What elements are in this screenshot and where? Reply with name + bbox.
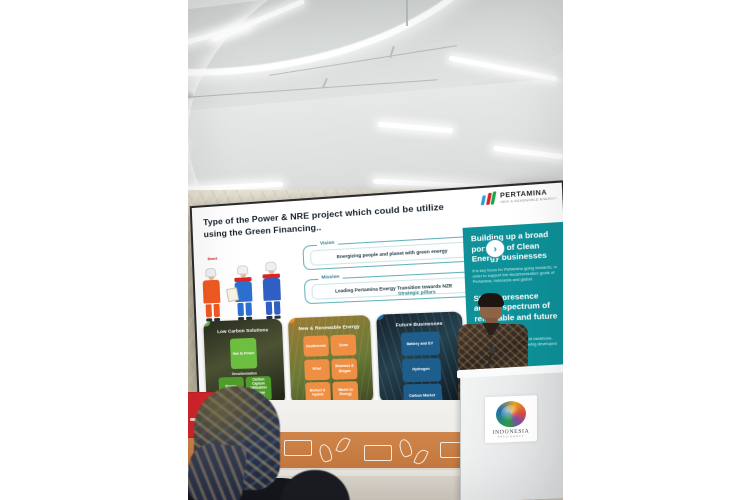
letterbox-left — [0, 0, 188, 500]
tile[interactable]: Solar — [331, 334, 357, 356]
speaker-hair — [478, 293, 504, 307]
right-panel-body-1: It is key focus for Pertamina going forw… — [472, 264, 559, 284]
podium: INDONESIA PRESIDENCY — [460, 370, 563, 500]
tile[interactable]: Wind — [304, 359, 330, 380]
slide-title: Type of the Power & NRE project which co… — [203, 199, 461, 240]
mission-text: Leading Pertamina Energy Transition towa… — [311, 276, 478, 299]
right-panel-heading-1: Building up a broad portfolio of Clean E… — [471, 229, 558, 264]
ceiling-hanger — [406, 0, 408, 26]
pertamina-brand-lockup: PERTAMINA NEW & RENEWABLE ENERGY — [482, 187, 557, 205]
podium-sub-text: PRESIDENCY — [498, 434, 525, 438]
ceiling — [188, 0, 563, 205]
letterbox-right — [563, 0, 750, 500]
tile[interactable]: Gas to Power — [230, 338, 257, 369]
tile[interactable]: Biomass & Biogas — [331, 358, 357, 379]
conference-photo: Type of the Power & NRE project which co… — [188, 0, 563, 500]
vision-group: Vision Energizing people and planet with… — [302, 235, 484, 270]
worker-figure-blue-red — [262, 261, 282, 319]
pillar-card-future-businesses[interactable]: 3 Future Businesses Battery and EV Hydro… — [376, 311, 465, 402]
podium-logo-plate: INDONESIA PRESIDENCY — [485, 395, 537, 443]
pertamina-arrow-icon — [482, 191, 497, 205]
tile[interactable]: Geothermal — [303, 335, 329, 356]
audience-hijab-drape — [188, 441, 247, 500]
worker-tag-label: Brand — [208, 257, 218, 262]
pillar-tiles-3: Battery and EV Hydrogen Carbon Market Gr… — [377, 325, 466, 402]
worker-figure-orange — [202, 268, 221, 322]
tile[interactable]: Hydrogen — [401, 357, 440, 381]
screenshot-canvas: Type of the Power & NRE project which co… — [0, 0, 750, 500]
indonesia-globe-icon — [496, 400, 526, 427]
tile[interactable]: Battery and EV — [400, 331, 439, 356]
clipboard-icon — [226, 287, 239, 302]
worker-illustration: Brand — [202, 254, 302, 321]
